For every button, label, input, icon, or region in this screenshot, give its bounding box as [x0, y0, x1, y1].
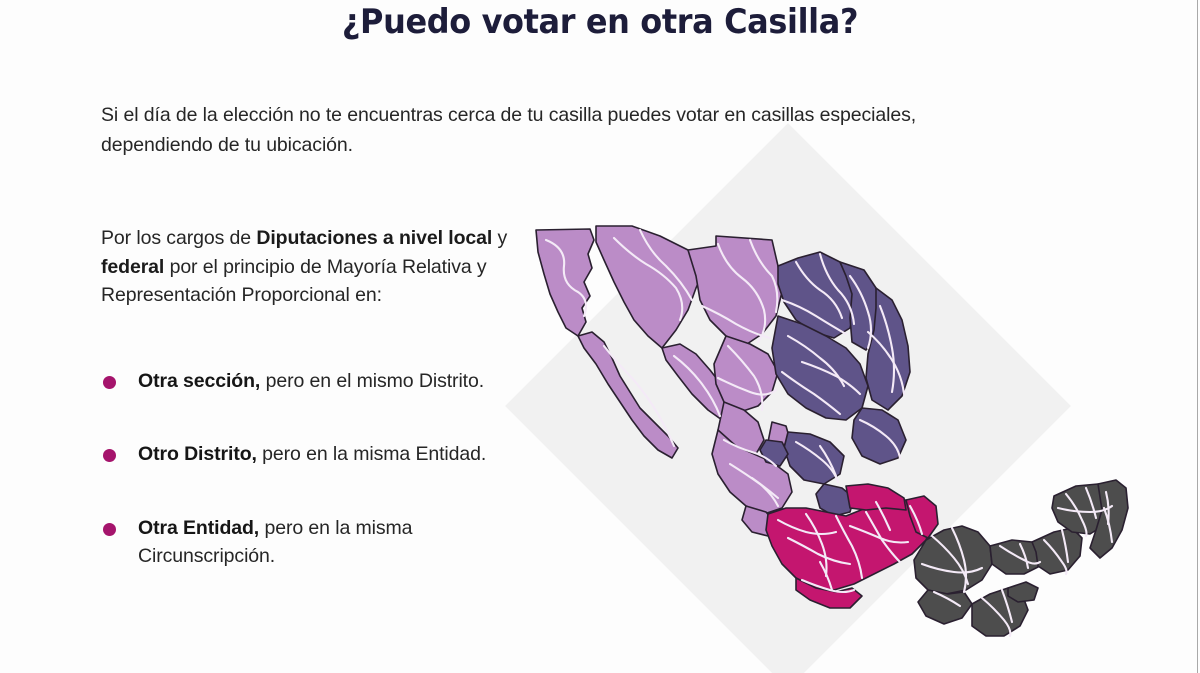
text-column: Si el día de la elección no te encuentra…: [101, 100, 531, 587]
mexico-map: [520, 196, 1140, 666]
lead-paragraph: Por los cargos de Diputaciones a nivel l…: [101, 224, 513, 310]
list-item-bold: Otro Distrito,: [138, 443, 257, 465]
intro-paragraph: Si el día de la elección no te encuentra…: [101, 100, 1101, 160]
right-edge-rule: [1197, 0, 1198, 673]
list-item: Otra sección, pero en el mismo Distrito.: [101, 367, 538, 396]
page-title: ¿Puedo votar en otra Casilla?: [36, 2, 1164, 42]
list-item-bold: Otra sección,: [138, 370, 260, 392]
bullet-list: Otra sección, pero en el mismo Distrito.…: [101, 367, 531, 571]
map-region-noroeste: [536, 226, 792, 536]
lead-text-1: Por los cargos de: [101, 227, 256, 249]
lead-bold-1: Diputaciones a nivel local: [256, 227, 492, 249]
list-item: Otra Entidad, pero en la misma Circunscr…: [101, 514, 538, 571]
infographic-page: ¿Puedo votar en otra Casilla? Si el día …: [0, 0, 1200, 673]
bullet-dot-icon: [103, 523, 116, 536]
list-item-text: pero en el mismo Distrito.: [260, 370, 484, 392]
list-item: Otro Distrito, pero en la misma Entidad.: [101, 440, 538, 469]
lead-text-2: y: [492, 227, 507, 249]
bullet-dot-icon: [103, 376, 116, 389]
list-item-bold: Otra Entidad,: [138, 517, 259, 539]
bullet-dot-icon: [103, 449, 116, 462]
intro-line-2: dependiendo de tu ubicación.: [101, 130, 1101, 160]
mexico-map-svg: [520, 196, 1140, 666]
lead-bold-2: federal: [101, 256, 164, 278]
list-item-text: pero en la misma Entidad.: [257, 443, 486, 465]
intro-line-1: Si el día de la elección no te encuentra…: [101, 104, 916, 126]
